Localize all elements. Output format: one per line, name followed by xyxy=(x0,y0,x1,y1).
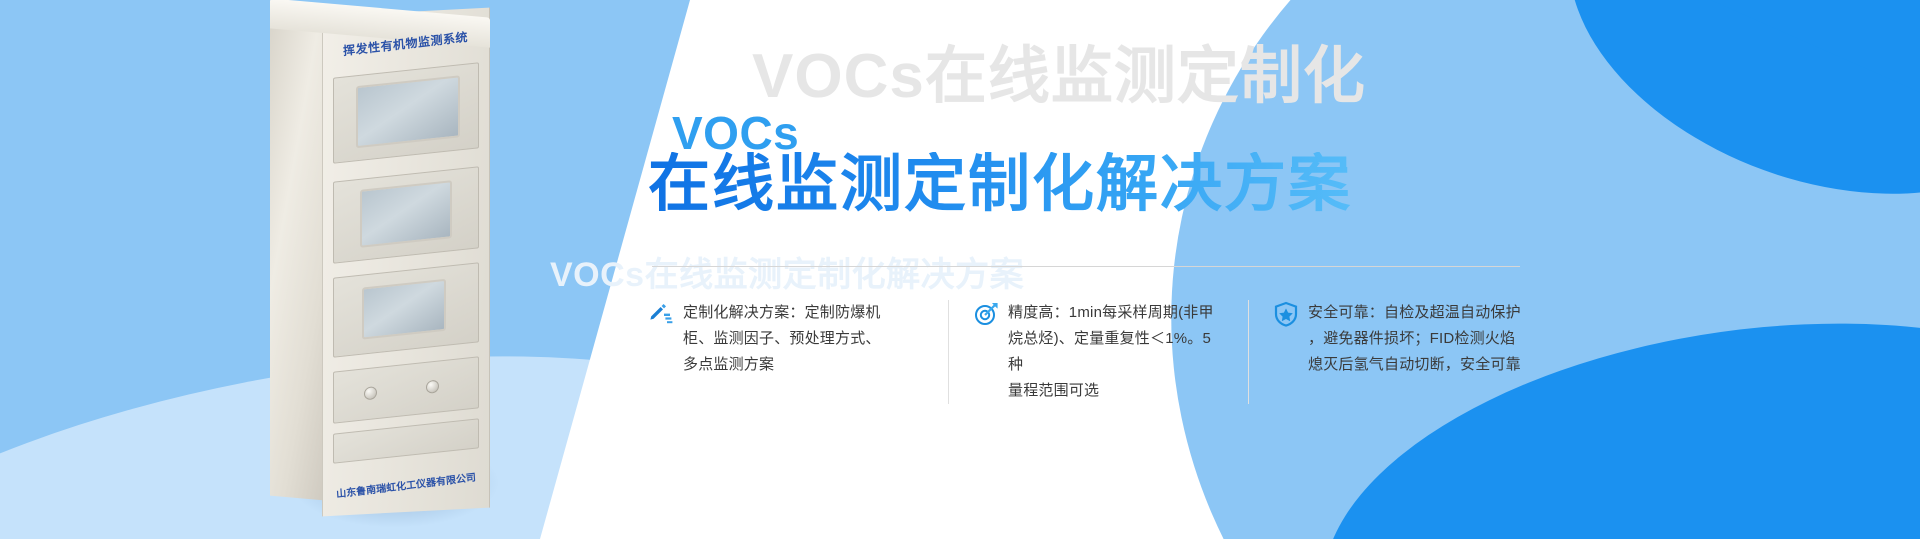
feature-line: 定制化解决方案：定制防爆机 xyxy=(683,300,881,326)
feature-item-safety: 安全可靠：自检及超温自动保护 ，避免器件损坏；FID检测火焰 熄灭后氢气自动切断… xyxy=(1248,300,1548,404)
product-image: 挥发性有机物监测系统 山东鲁南瑞虹化工仪器有限公司 xyxy=(268,8,518,528)
cabinet-bay-1 xyxy=(333,62,479,163)
company-name-text: 山东鲁南瑞虹化工仪器有限公司 xyxy=(336,468,477,500)
target-dart-icon xyxy=(973,301,999,327)
cabinet-window-1 xyxy=(356,75,460,148)
cabinet-knob-right xyxy=(426,380,439,394)
feature-line: 多点监测方案 xyxy=(683,352,881,378)
shield-star-icon xyxy=(1273,301,1299,327)
watermark-bottom: VOCs在线监测定制化解决方案 xyxy=(550,258,1024,292)
cabinet-bay-3 xyxy=(333,262,479,357)
feature-text-safety: 安全可靠：自检及超温自动保护 ，避免器件损坏；FID检测火焰 熄灭后氢气自动切断… xyxy=(1308,300,1521,378)
cabinet-display-2 xyxy=(360,180,452,248)
cabinet-header-text: 挥发性有机物监测系统 xyxy=(343,27,469,58)
cabinet-side-panel xyxy=(270,22,324,501)
feature-line: 烷总烃)、定量重复性＜1%。5种 xyxy=(1008,326,1222,378)
feature-line: 安全可靠：自检及超温自动保护 xyxy=(1308,300,1521,326)
feature-line: 精度高：1min每采样周期(非甲 xyxy=(1008,300,1222,326)
promo-banner: 挥发性有机物监测系统 山东鲁南瑞虹化工仪器有限公司 VOCs在线监测定制化 VO… xyxy=(0,0,1920,539)
feature-text-customization: 定制化解决方案：定制防爆机 柜、监测因子、预处理方式、 多点监测方案 xyxy=(683,300,881,378)
cabinet-display-3 xyxy=(362,279,446,340)
cabinet-front-panel xyxy=(322,8,490,517)
watermark-top: VOCs在线监测定制化 xyxy=(752,46,1366,108)
feature-item-precision: 精度高：1min每采样周期(非甲 烷总烃)、定量重复性＜1%。5种 量程范围可选 xyxy=(948,300,1248,404)
section-divider xyxy=(652,266,1520,267)
cabinet-bay-5 xyxy=(333,418,479,463)
cabinet-header-label: 挥发性有机物监测系统 xyxy=(328,18,484,68)
feature-item-customization: 定制化解决方案：定制防爆机 柜、监测因子、预处理方式、 多点监测方案 xyxy=(648,300,948,404)
feature-line: 熄灭后氢气自动切断，安全可靠 xyxy=(1308,352,1521,378)
pen-tools-icon xyxy=(648,301,674,327)
headline-chinese: 在线监测定制化解决方案 xyxy=(648,152,1352,217)
feature-line: 量程范围可选 xyxy=(1008,378,1222,404)
feature-line: 柜、监测因子、预处理方式、 xyxy=(683,326,881,352)
feature-line: ，避免器件损坏；FID检测火焰 xyxy=(1308,326,1521,352)
feature-list: 定制化解决方案：定制防爆机 柜、监测因子、预处理方式、 多点监测方案 xyxy=(648,300,1548,404)
feature-text-precision: 精度高：1min每采样周期(非甲 烷总烃)、定量重复性＜1%。5种 量程范围可选 xyxy=(1008,300,1222,404)
cabinet-knob-left xyxy=(364,386,377,400)
cabinet-bay-4 xyxy=(333,356,479,423)
cabinet-bay-2 xyxy=(333,166,479,263)
copy-block: VOCs在线监测定制化 VOCs 在线监测定制化解决方案 VOCs在线监测定制化… xyxy=(648,0,1658,539)
